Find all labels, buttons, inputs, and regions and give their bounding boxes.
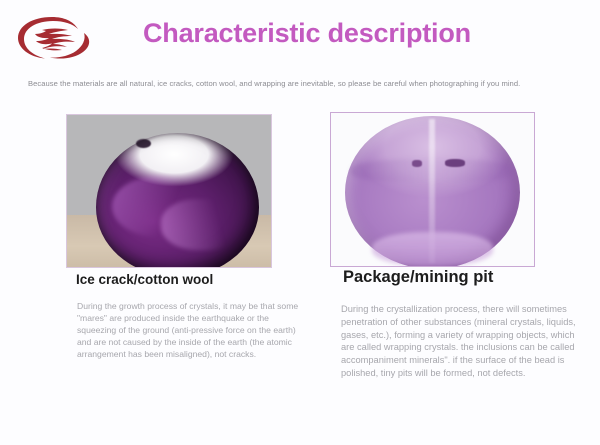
page-title: Characteristic description bbox=[143, 18, 471, 49]
bead-lower-highlight bbox=[372, 232, 494, 266]
inclusion-two bbox=[412, 160, 422, 166]
sphere-rim-shadow bbox=[96, 133, 259, 268]
body-package-mining-pit: During the crystallization process, ther… bbox=[341, 303, 585, 380]
product-description-page: Characteristic description Because the m… bbox=[0, 0, 600, 445]
inclusion-one bbox=[445, 159, 465, 167]
body-ice-crack: During the growth process of crystals, i… bbox=[77, 300, 301, 360]
ice-crack-photo bbox=[66, 114, 272, 268]
page-subtitle: Because the materials are all natural, i… bbox=[28, 78, 580, 89]
package-mining-pit-photo bbox=[330, 112, 535, 267]
swirl-dragon-logo-icon bbox=[12, 13, 96, 63]
feature-column-package bbox=[325, 110, 585, 265]
caption-ice-crack: Ice crack/cotton wool bbox=[76, 272, 213, 287]
feature-column-ice-crack bbox=[60, 110, 310, 264]
page-header: Characteristic description bbox=[0, 0, 600, 68]
caption-package-mining-pit: Package/mining pit bbox=[343, 268, 493, 287]
